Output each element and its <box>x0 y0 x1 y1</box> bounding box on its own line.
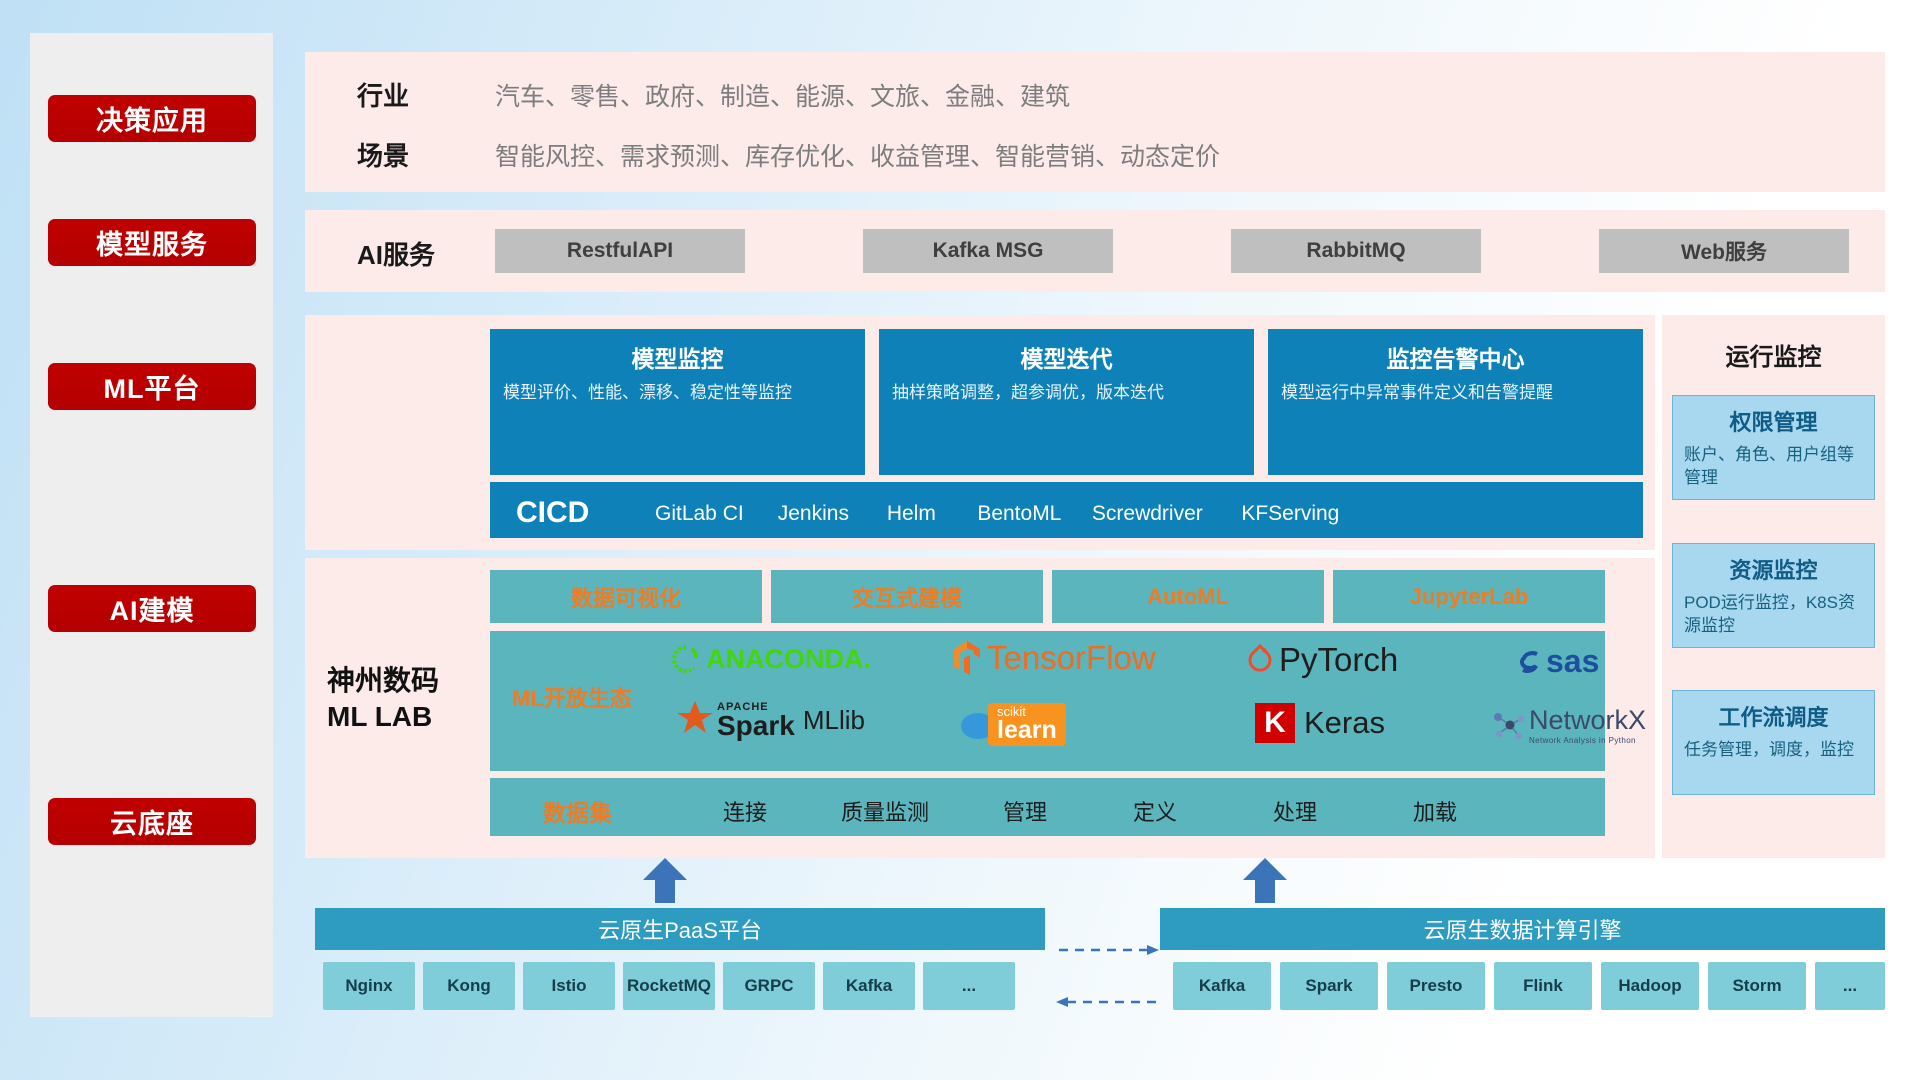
chip-istio[interactable]: Istio <box>523 962 615 1010</box>
cicd-tool-bentoml[interactable]: BentoML <box>965 501 1073 527</box>
chip-nginx[interactable]: Nginx <box>323 962 415 1010</box>
sidebar-item-label: AI建模 <box>110 589 195 628</box>
lab-tool-interactive-modeling[interactable]: 交互式建模 <box>771 570 1043 623</box>
sas-logo: sas <box>1515 643 1599 680</box>
card-desc: 任务管理，调度，监控 <box>1684 739 1863 762</box>
sidebar-item-ai-modeling[interactable]: AI建模 <box>48 585 256 632</box>
ml-lab-label-line1: 神州数码 <box>327 663 439 699</box>
chip-presto[interactable]: Presto <box>1387 962 1485 1010</box>
ml-ecosystem-panel: ML开放生态 ANACONDA. TensorFlow <box>490 631 1605 771</box>
keras-label: Keras <box>1304 705 1385 741</box>
card-title: 工作流调度 <box>1673 700 1874 732</box>
keras-logo: K Keras <box>1255 703 1385 743</box>
tensorflow-icon <box>950 639 984 677</box>
spark-mllib-logo: APACHE Spark MLlib <box>675 699 865 741</box>
monitoring-card-permission[interactable]: 权限管理 账户、角色、用户组等管理 <box>1672 395 1875 500</box>
card-desc: POD运行监控，K8S资源监控 <box>1684 592 1863 638</box>
dataset-label: 数据集 <box>543 794 612 828</box>
service-restful-api[interactable]: RestfulAPI <box>495 229 745 273</box>
sidebar-item-cloud-base[interactable]: 云底座 <box>48 798 256 845</box>
scenario-values: 智能风控、需求预测、库存优化、收益管理、智能营销、动态定价 <box>495 137 1220 173</box>
service-label: RestfulAPI <box>567 239 673 263</box>
networkx-subtitle: Network Analysis in Python <box>1529 736 1646 745</box>
chip-grpc[interactable]: GRPC <box>723 962 815 1010</box>
networkx-label: NetworkX <box>1529 705 1646 736</box>
model-service-band: AI服务 RestfulAPI Kafka MSG RabbitMQ Web服务 <box>305 210 1885 292</box>
sidebar-item-label: 决策应用 <box>96 99 208 138</box>
service-web[interactable]: Web服务 <box>1599 229 1849 273</box>
industry-label: 行业 <box>357 76 409 113</box>
cicd-label: CICD <box>516 496 589 530</box>
cicd-tool-gitlab-ci[interactable]: GitLab CI <box>629 501 769 527</box>
mlops-card-model-iteration[interactable]: 模型迭代 抽样策略调整，超参调优，版本迭代 <box>879 329 1254 475</box>
industry-values: 汽车、零售、政府、制造、能源、文旅、金融、建筑 <box>495 77 1070 113</box>
cicd-tool-helm[interactable]: Helm <box>857 501 965 527</box>
ml-lab-band: 神州数码 ML LAB 数据可视化 交互式建模 AutoML JupyterLa… <box>305 558 1655 858</box>
lab-tool-jupyterlab[interactable]: JupyterLab <box>1333 570 1605 623</box>
tool-label: JupyterLab <box>1333 570 1605 623</box>
layer-rail: 决策应用 模型服务 ML平台 AI建模 云底座 <box>30 33 273 1017</box>
service-label: Kafka MSG <box>933 239 1044 263</box>
spark-star-icon <box>675 699 715 741</box>
tool-label: 交互式建模 <box>771 570 1043 623</box>
tool-label: AutoML <box>1052 570 1324 623</box>
architecture-diagram: 决策应用 模型服务 ML平台 AI建模 云底座 行业 汽车、零售、政府、制造、能… <box>0 0 1920 1080</box>
dataset-row: 数据集 连接 质量监测 管理 定义 处理 加载 <box>490 778 1605 836</box>
scenario-label: 场景 <box>357 136 409 173</box>
learn-label: learn <box>997 718 1057 743</box>
service-kafka-msg[interactable]: Kafka MSG <box>863 229 1113 273</box>
tensorflow-label: TensorFlow <box>987 639 1156 677</box>
sidebar-item-label: 云底座 <box>110 802 194 841</box>
card-title: 模型迭代 <box>879 340 1254 374</box>
cicd-tool-jenkins[interactable]: Jenkins <box>769 501 857 527</box>
cicd-tool-screwdriver[interactable]: Screwdriver <box>1073 501 1221 527</box>
anaconda-label: ANACONDA. <box>706 644 871 675</box>
eco-label: ML开放生态 <box>512 681 632 713</box>
keras-icon: K <box>1255 703 1295 743</box>
sidebar-item-ml-platform[interactable]: ML平台 <box>48 363 256 410</box>
chip-more-engine[interactable]: ... <box>1815 962 1885 1010</box>
decision-app-band: 行业 汽车、零售、政府、制造、能源、文旅、金融、建筑 场景 智能风控、需求预测、… <box>305 52 1885 192</box>
chip-kafka-paas[interactable]: Kafka <box>823 962 915 1010</box>
monitoring-card-workflow[interactable]: 工作流调度 任务管理，调度，监控 <box>1672 690 1875 795</box>
ai-service-label: AI服务 <box>357 235 435 272</box>
service-rabbitmq[interactable]: RabbitMQ <box>1231 229 1481 273</box>
scikit-learn-logo: scikit learn <box>960 703 1066 746</box>
bidirectional-dashed-connector-icon <box>1055 940 1160 1010</box>
card-desc: 模型评价、性能、漂移、稳定性等监控 <box>503 382 852 405</box>
lab-tool-data-visualization[interactable]: 数据可视化 <box>490 570 762 623</box>
paas-title: 云原生PaaS平台 <box>598 913 762 945</box>
pytorch-label: PyTorch <box>1279 641 1398 679</box>
chip-kong[interactable]: Kong <box>423 962 515 1010</box>
monitoring-card-resource[interactable]: 资源监控 POD运行监控，K8S资源监控 <box>1672 543 1875 648</box>
chip-spark[interactable]: Spark <box>1280 962 1378 1010</box>
chip-hadoop[interactable]: Hadoop <box>1601 962 1699 1010</box>
spark-label: Spark <box>717 713 795 738</box>
engine-title: 云原生数据计算引擎 <box>1423 913 1621 945</box>
service-label: Web服务 <box>1681 236 1767 266</box>
mlops-band: MLOps 模型监控 模型评价、性能、漂移、稳定性等监控 模型迭代 抽样策略调整… <box>305 315 1655 550</box>
chip-flink[interactable]: Flink <box>1494 962 1592 1010</box>
card-title: 资源监控 <box>1673 553 1874 585</box>
ml-lab-label: 神州数码 ML LAB <box>327 663 439 736</box>
anaconda-icon <box>670 643 702 675</box>
dataset-item-quality[interactable]: 质量监测 <box>820 795 950 827</box>
monitoring-column: 运行监控 权限管理 账户、角色、用户组等管理 资源监控 POD运行监控，K8S资… <box>1662 315 1885 858</box>
networkx-graph-icon <box>1490 707 1526 743</box>
dataset-item-load[interactable]: 加载 <box>1390 795 1480 827</box>
sidebar-item-decision-app[interactable]: 决策应用 <box>48 95 256 142</box>
card-desc: 账户、角色、用户组等管理 <box>1684 444 1863 490</box>
card-title: 监控告警中心 <box>1268 340 1643 374</box>
sas-icon <box>1515 647 1545 677</box>
data-engine-bar[interactable]: 云原生数据计算引擎 <box>1160 908 1885 950</box>
chip-kafka-engine[interactable]: Kafka <box>1173 962 1271 1010</box>
pytorch-icon <box>1245 643 1275 677</box>
cicd-tool-kfserving[interactable]: KFServing <box>1221 501 1359 527</box>
chip-rocketmq[interactable]: RocketMQ <box>623 962 715 1010</box>
paas-platform-bar[interactable]: 云原生PaaS平台 <box>315 908 1045 950</box>
mlops-card-model-monitoring[interactable]: 模型监控 模型评价、性能、漂移、稳定性等监控 <box>490 329 865 475</box>
mlops-card-alert-center[interactable]: 监控告警中心 模型运行中异常事件定义和告警提醒 <box>1268 329 1643 475</box>
dataset-item-process[interactable]: 处理 <box>1250 795 1340 827</box>
tensorflow-logo: TensorFlow <box>950 639 1156 677</box>
mllib-label: MLlib <box>803 705 865 736</box>
lab-tool-automl[interactable]: AutoML <box>1052 570 1324 623</box>
sidebar-item-label: ML平台 <box>104 367 201 406</box>
ml-lab-label-line2: ML LAB <box>327 699 439 735</box>
sidebar-item-model-service[interactable]: 模型服务 <box>48 219 256 266</box>
cicd-row: CICD GitLab CI Jenkins Helm BentoML Scre… <box>490 482 1643 538</box>
chip-storm[interactable]: Storm <box>1708 962 1806 1010</box>
sas-label: sas <box>1546 643 1599 680</box>
tool-label: 数据可视化 <box>490 570 762 623</box>
monitoring-title: 运行监控 <box>1662 337 1885 372</box>
arrow-up-engine-icon <box>1235 858 1295 903</box>
pytorch-logo: PyTorch <box>1245 641 1398 679</box>
sidebar-item-label: 模型服务 <box>96 223 208 262</box>
card-title: 权限管理 <box>1673 405 1874 437</box>
dataset-item-define[interactable]: 定义 <box>1110 795 1200 827</box>
networkx-logo: NetworkX Network Analysis in Python <box>1490 705 1646 745</box>
dataset-item-connect[interactable]: 连接 <box>700 795 790 827</box>
card-title: 模型监控 <box>490 340 865 374</box>
card-desc: 模型运行中异常事件定义和告警提醒 <box>1281 382 1630 405</box>
arrow-up-paas-icon <box>635 858 695 903</box>
service-label: RabbitMQ <box>1306 239 1405 263</box>
card-desc: 抽样策略调整，超参调优，版本迭代 <box>892 382 1241 405</box>
dataset-item-manage[interactable]: 管理 <box>980 795 1070 827</box>
anaconda-logo: ANACONDA. <box>670 643 871 675</box>
chip-more-paas[interactable]: ... <box>923 962 1015 1010</box>
